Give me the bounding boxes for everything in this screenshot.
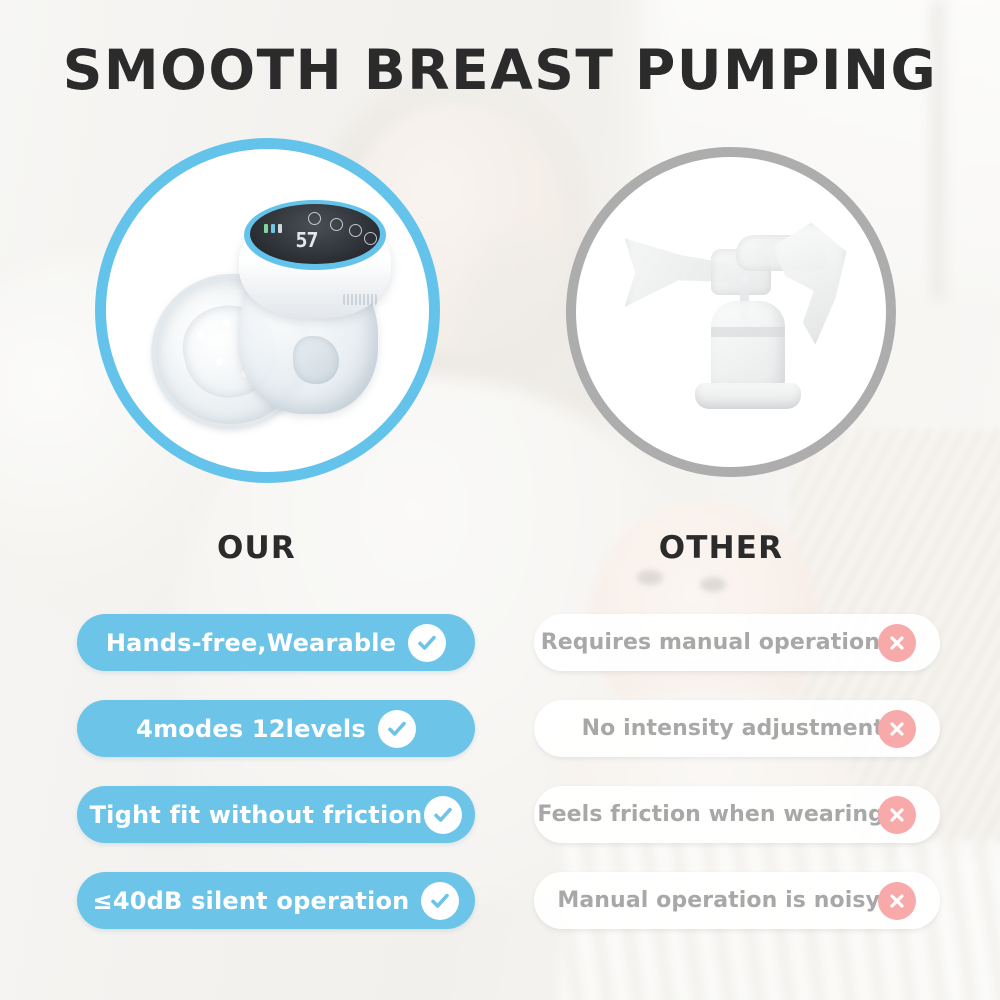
check-icon (421, 882, 459, 920)
pump-lcd-display: 57 (250, 204, 380, 264)
other-feature-pill[interactable]: Feels friction when wearing (534, 786, 940, 843)
check-icon (408, 624, 446, 662)
background-photo (0, 0, 1000, 1000)
infographic-stage: SMOOTH BREAST PUMPING (0, 0, 1000, 1000)
lcd-battery-bar (278, 224, 282, 233)
cross-icon (878, 710, 916, 748)
background-white-overlay (0, 0, 1000, 1000)
pump-spout (293, 336, 339, 384)
check-icon (378, 710, 416, 748)
other-feature-pill[interactable]: Requires manual operation (534, 614, 940, 671)
our-feature-label: Tight fit without friction (90, 801, 423, 829)
pump-flange-dot (215, 357, 223, 365)
cross-icon (878, 796, 916, 834)
manual-pump-bottle (711, 301, 785, 393)
other-feature-label: Manual operation is noisy (557, 888, 880, 913)
other-feature-label: Feels friction when wearing (537, 802, 884, 827)
pump-flange-dot (196, 331, 204, 339)
our-column-heading: OUR (95, 530, 418, 566)
cross-icon (878, 882, 916, 920)
wearable-breast-pump-image: 57 (143, 196, 393, 426)
our-feature-label: ≤40dB silent operation (93, 887, 410, 915)
pump-brand-label (343, 294, 377, 305)
manual-breast-pump-image (619, 205, 844, 420)
lcd-power-icon (308, 212, 321, 225)
page-title: SMOOTH BREAST PUMPING (0, 38, 1000, 102)
other-product-circle (566, 147, 896, 477)
our-feature-label: 4modes 12levels (136, 715, 366, 743)
manual-pump-bottle-ring (711, 327, 785, 337)
our-feature-pill[interactable]: ≤40dB silent operation (77, 872, 475, 929)
our-product-circle: 57 (95, 138, 440, 483)
cross-icon (878, 624, 916, 662)
lcd-battery-bar (264, 224, 268, 233)
other-feature-label: Requires manual operation (541, 630, 880, 655)
our-feature-pill[interactable]: 4modes 12levels (77, 700, 475, 757)
check-icon (424, 796, 462, 834)
other-feature-pill[interactable]: Manual operation is noisy (534, 872, 940, 929)
pump-flange-dot (222, 318, 230, 326)
lcd-minus-icon (349, 224, 362, 237)
our-feature-pill[interactable]: Hands-free,Wearable (77, 614, 475, 671)
other-feature-pill[interactable]: No intensity adjustment (534, 700, 940, 757)
lcd-level-value: 57 (296, 228, 318, 252)
lcd-battery-bar (271, 224, 275, 233)
manual-pump-base (695, 383, 801, 409)
lcd-plus-icon (364, 232, 377, 245)
our-feature-pill[interactable]: Tight fit without friction (77, 786, 475, 843)
lcd-mode-icon (330, 218, 343, 231)
other-feature-label: No intensity adjustment (582, 716, 884, 741)
our-feature-label: Hands-free,Wearable (106, 629, 396, 657)
other-column-heading: OTHER (566, 530, 876, 566)
